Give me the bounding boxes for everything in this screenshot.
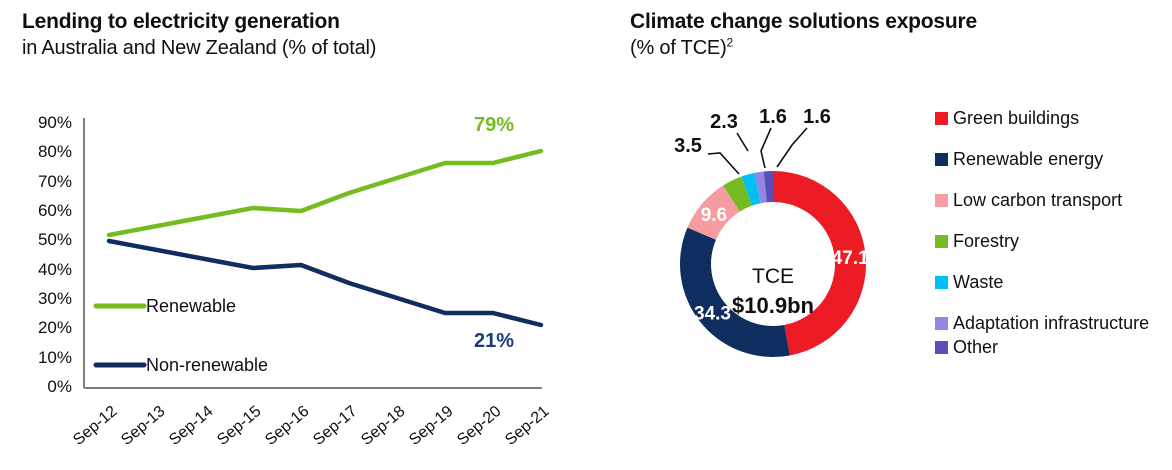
line-series-renewable: [109, 151, 541, 235]
line-chart-panel: Lending to electricity generation in Aus…: [0, 0, 620, 470]
renewable-end-label: 79%: [474, 114, 514, 136]
leader-line-forestry: [708, 153, 739, 174]
legend-item-green-buildings[interactable]: Green buildings: [935, 108, 1172, 129]
donut-callout-leaders: [708, 128, 807, 174]
non-renewable-end-label: 21%: [474, 330, 514, 352]
legend-swatch-waste: [935, 276, 948, 289]
legend-swatch-green-buildings: [935, 112, 948, 125]
legend-item-adaptation-infrastructure[interactable]: Adaptation infrastructure: [935, 313, 1172, 334]
legend-item-waste[interactable]: Waste: [935, 272, 1172, 293]
legend-swatch-renewable-energy: [935, 153, 948, 166]
donut-legend: Green buildings Renewable energy Low car…: [935, 108, 1172, 378]
y-tick-20: 20%: [38, 318, 72, 337]
legend-swatch-adaptation-infrastructure: [935, 317, 948, 330]
line-chart-svg: 90% 80% 70% 60% 50% 40% 30% 20% 10% 0%: [0, 100, 620, 470]
donut-chart-svg: 47.134.39.6 3.5 2.3 1.6 1.6 TCE $10.9bn: [620, 95, 950, 435]
x-axis-tick-labels: Sep-12 Sep-13 Sep-14 Sep-15 Sep-16 Sep-1…: [70, 403, 553, 449]
legend-label-renewable: Renewable: [146, 296, 236, 316]
right-chart-subtitle: (% of TCE)2: [630, 35, 977, 62]
x-tick-1: Sep-13: [118, 403, 169, 449]
left-title-block: Lending to electricity generation in Aus…: [22, 8, 376, 62]
slice-value-renewable-energy: 34.3: [694, 303, 731, 324]
legend-label-renewable-energy: Renewable energy: [953, 149, 1103, 170]
legend-label-forestry: Forestry: [953, 231, 1019, 252]
callout-value-other: 1.6: [803, 106, 831, 128]
leader-line-adaptation: [761, 128, 771, 168]
y-tick-80: 80%: [38, 142, 72, 161]
legend-label-green-buildings: Green buildings: [953, 108, 1079, 129]
y-tick-60: 60%: [38, 201, 72, 220]
y-tick-90: 90%: [38, 113, 72, 132]
y-tick-70: 70%: [38, 172, 72, 191]
line-chart: 90% 80% 70% 60% 50% 40% 30% 20% 10% 0%: [0, 100, 620, 470]
x-tick-2: Sep-14: [166, 403, 217, 449]
legend-item-forestry[interactable]: Forestry: [935, 231, 1172, 252]
legend-item-low-carbon-transport[interactable]: Low carbon transport: [935, 190, 1172, 211]
line-chart-legend: Renewable Non-renewable: [96, 296, 268, 375]
legend-item-other[interactable]: Other: [935, 337, 1172, 358]
callout-value-forestry: 3.5: [674, 135, 702, 157]
y-tick-10: 10%: [38, 348, 72, 367]
donut-center-bottom-label: $10.9bn: [732, 293, 814, 318]
y-tick-30: 30%: [38, 289, 72, 308]
slice-value-low-carbon-transport: 9.6: [701, 205, 727, 226]
x-tick-8: Sep-20: [454, 403, 505, 449]
y-tick-40: 40%: [38, 260, 72, 279]
callout-value-waste: 2.3: [710, 111, 738, 133]
slice-value-green-buildings: 47.1: [832, 248, 869, 269]
legend-label-adaptation-infrastructure: Adaptation infrastructure: [953, 313, 1149, 334]
callout-value-adaptation: 1.6: [759, 106, 787, 128]
donut-center-top-label: TCE: [752, 265, 794, 288]
y-tick-50: 50%: [38, 230, 72, 249]
right-chart-title: Climate change solutions exposure: [630, 8, 977, 35]
footnote-marker: 2: [727, 35, 733, 49]
x-tick-7: Sep-19: [406, 403, 457, 449]
donut-chart-panel: Climate change solutions exposure (% of …: [620, 0, 1172, 470]
legend-label-low-carbon-transport: Low carbon transport: [953, 190, 1122, 211]
legend-swatch-low-carbon-transport: [935, 194, 948, 207]
leader-line-waste: [737, 133, 748, 151]
legend-label-waste: Waste: [953, 272, 1003, 293]
x-tick-6: Sep-18: [358, 403, 409, 449]
x-tick-3: Sep-15: [214, 403, 265, 449]
y-tick-0: 0%: [47, 377, 72, 396]
y-axis-tick-labels: 90% 80% 70% 60% 50% 40% 30% 20% 10% 0%: [38, 113, 72, 396]
x-tick-0: Sep-12: [70, 403, 121, 449]
x-tick-9: Sep-21: [502, 403, 553, 449]
x-tick-5: Sep-17: [310, 403, 361, 449]
left-chart-title: Lending to electricity generation: [22, 8, 376, 35]
leader-line-other: [777, 128, 807, 167]
figure-container: Lending to electricity generation in Aus…: [0, 0, 1172, 470]
right-subtitle-text: (% of TCE): [630, 37, 727, 59]
legend-label-non-renewable: Non-renewable: [146, 355, 268, 375]
legend-label-other: Other: [953, 337, 998, 358]
legend-swatch-forestry: [935, 235, 948, 248]
left-chart-subtitle: in Australia and New Zealand (% of total…: [22, 35, 376, 62]
legend-swatch-other: [935, 341, 948, 354]
donut-chart: 47.134.39.6 3.5 2.3 1.6 1.6 TCE $10.9bn: [620, 95, 950, 435]
x-tick-4: Sep-16: [262, 403, 313, 449]
right-title-block: Climate change solutions exposure (% of …: [630, 8, 977, 62]
legend-item-renewable-energy[interactable]: Renewable energy: [935, 149, 1172, 170]
